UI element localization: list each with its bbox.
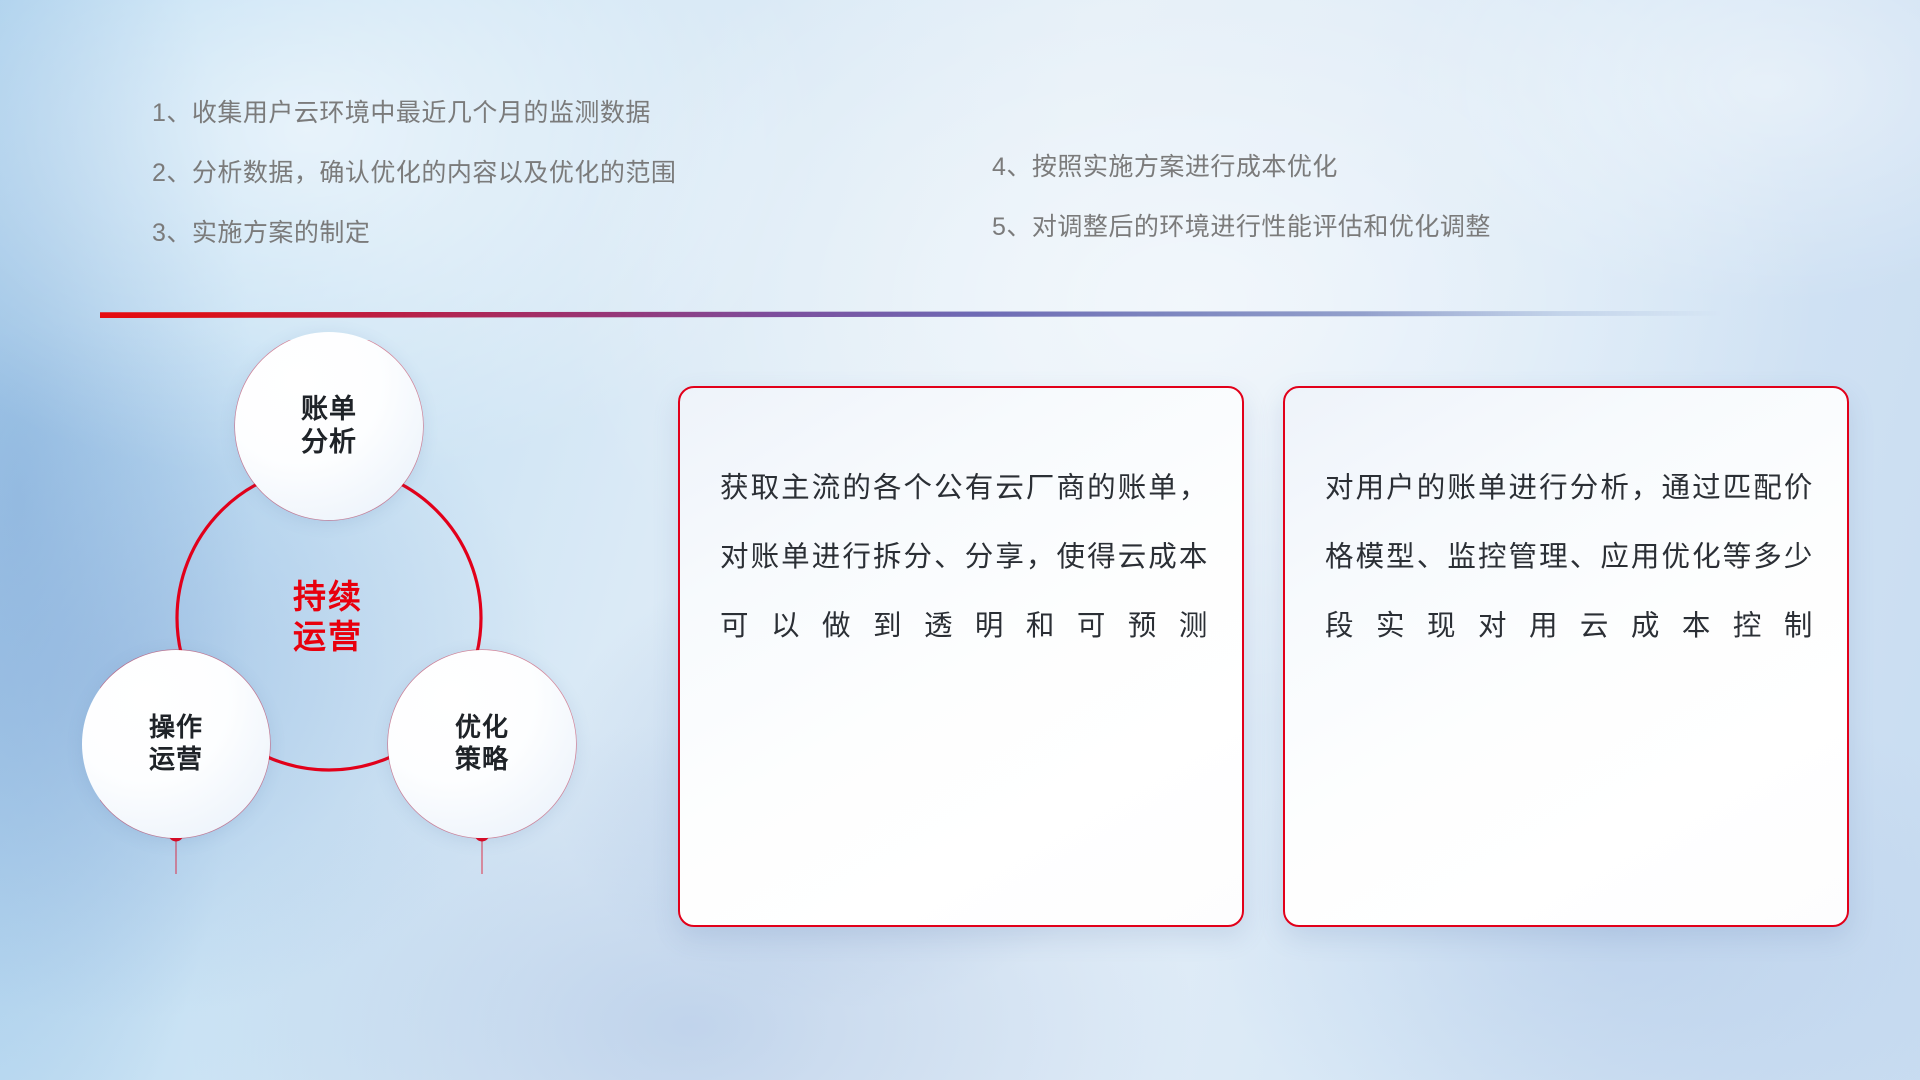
step-item-1: 1、收集用户云环境中最近几个月的监测数据 [152, 101, 676, 126]
feature-card-multicloud-billing[interactable]: 获取主流的各个公有云厂商的账单，对账单进行拆分、分享，使得云成本可以做到透明和可… [678, 386, 1244, 927]
feature-card-cloud-cost-optimization[interactable]: 对用户的账单进行分析，通过匹配价格模型、监控管理、应用优化等多少段实现对用云成本… [1283, 386, 1849, 927]
cycle-node-optimization-strategy-line1: 优化 [455, 712, 509, 744]
steps-list-left: 1、收集用户云环境中最近几个月的监测数据 2、分析数据，确认优化的内容以及优化的… [152, 101, 676, 281]
step-item-5: 5、对调整后的环境进行性能评估和优化调整 [992, 215, 1491, 240]
feature-card-1-body: 获取主流的各个公有云厂商的账单，对账单进行拆分、分享，使得云成本可以做到透明和可… [720, 454, 1208, 661]
cycle-node-operation-line1: 操作 [149, 712, 203, 744]
cycle-node-bill-analysis-line1: 账单 [301, 393, 357, 426]
step-item-3: 3、实施方案的制定 [152, 221, 676, 246]
step-item-4: 4、按照实施方案进行成本优化 [992, 155, 1491, 180]
cycle-node-optimization-strategy-line2: 策略 [455, 744, 509, 776]
cycle-node-operation[interactable]: 操作 运营 [82, 650, 270, 838]
feature-card-2-body: 对用户的账单进行分析，通过匹配价格模型、监控管理、应用优化等多少段实现对用云成本… [1325, 454, 1813, 661]
cycle-node-optimization-strategy[interactable]: 优化 策略 [388, 650, 576, 838]
steps-list-right: 4、按照实施方案进行成本优化 5、对调整后的环境进行性能评估和优化调整 [992, 155, 1491, 275]
cycle-node-operation-line2: 运营 [149, 744, 203, 776]
cycle-node-bill-analysis-line2: 分析 [301, 426, 357, 459]
cycle-node-bill-analysis[interactable]: 账单 分析 [235, 332, 423, 520]
section-divider [100, 311, 1720, 318]
cycle-center-label: 持续 运营 [228, 562, 428, 672]
step-item-2: 2、分析数据，确认优化的内容以及优化的范围 [152, 161, 676, 186]
cycle-center-label-line2: 运营 [293, 617, 363, 657]
cycle-diagram: 账单 分析 操作 运营 优化 策略 持续 运营 [100, 340, 660, 960]
cycle-center-label-line1: 持续 [293, 577, 363, 617]
